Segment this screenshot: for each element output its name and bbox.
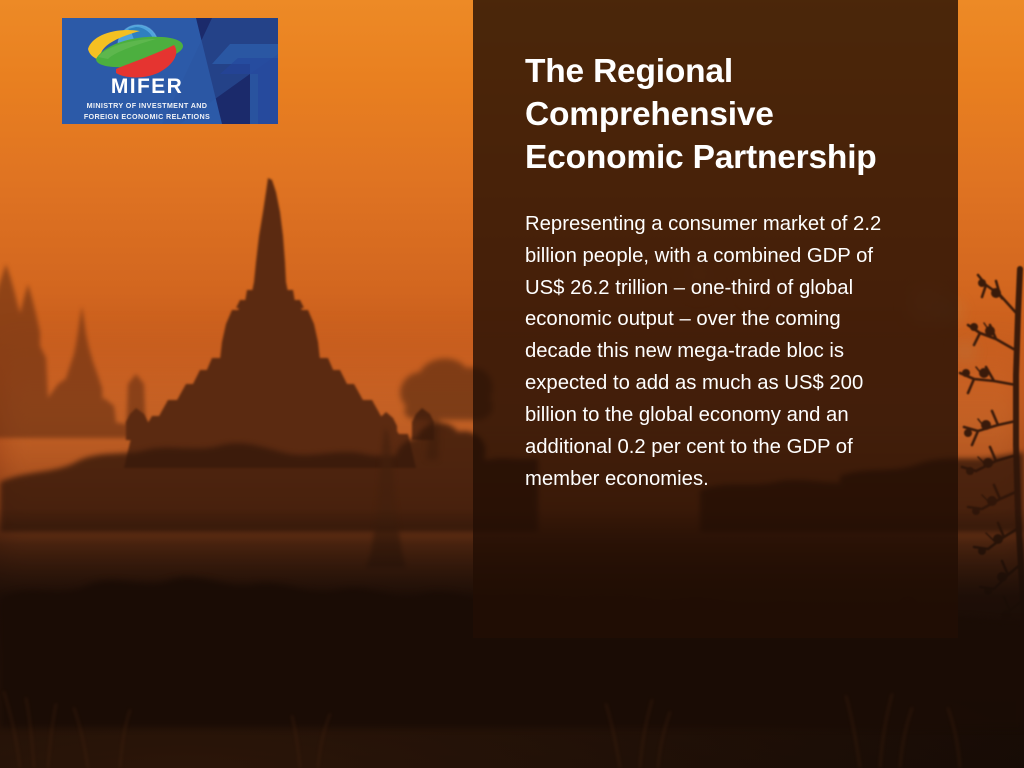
panel-content: The Regional Comprehensive Economic Part… (525, 50, 917, 496)
slide-body-text: Representing a consumer market of 2.2 bi… (525, 209, 903, 497)
logo-subtitle: MINISTRY OF INVESTMENT AND FOREIGN ECONO… (62, 100, 232, 122)
logo-wordmark: MIFER (62, 76, 232, 97)
slide-canvas: MIFER MINISTRY OF INVESTMENT AND FOREIGN… (0, 0, 1024, 768)
logo-subtitle-line-1: MINISTRY OF INVESTMENT AND (62, 100, 232, 111)
text-overlay-panel: The Regional Comprehensive Economic Part… (473, 0, 958, 638)
bokeh-glow-5 (956, 342, 974, 360)
logo-subtitle-line-2: FOREIGN ECONOMIC RELATIONS (62, 111, 232, 122)
slide-title: The Regional Comprehensive Economic Part… (525, 50, 910, 180)
globe-icon (82, 23, 186, 81)
mifer-logo: MIFER MINISTRY OF INVESTMENT AND FOREIGN… (62, 18, 278, 124)
foreground-grass-blades (0, 638, 1024, 768)
